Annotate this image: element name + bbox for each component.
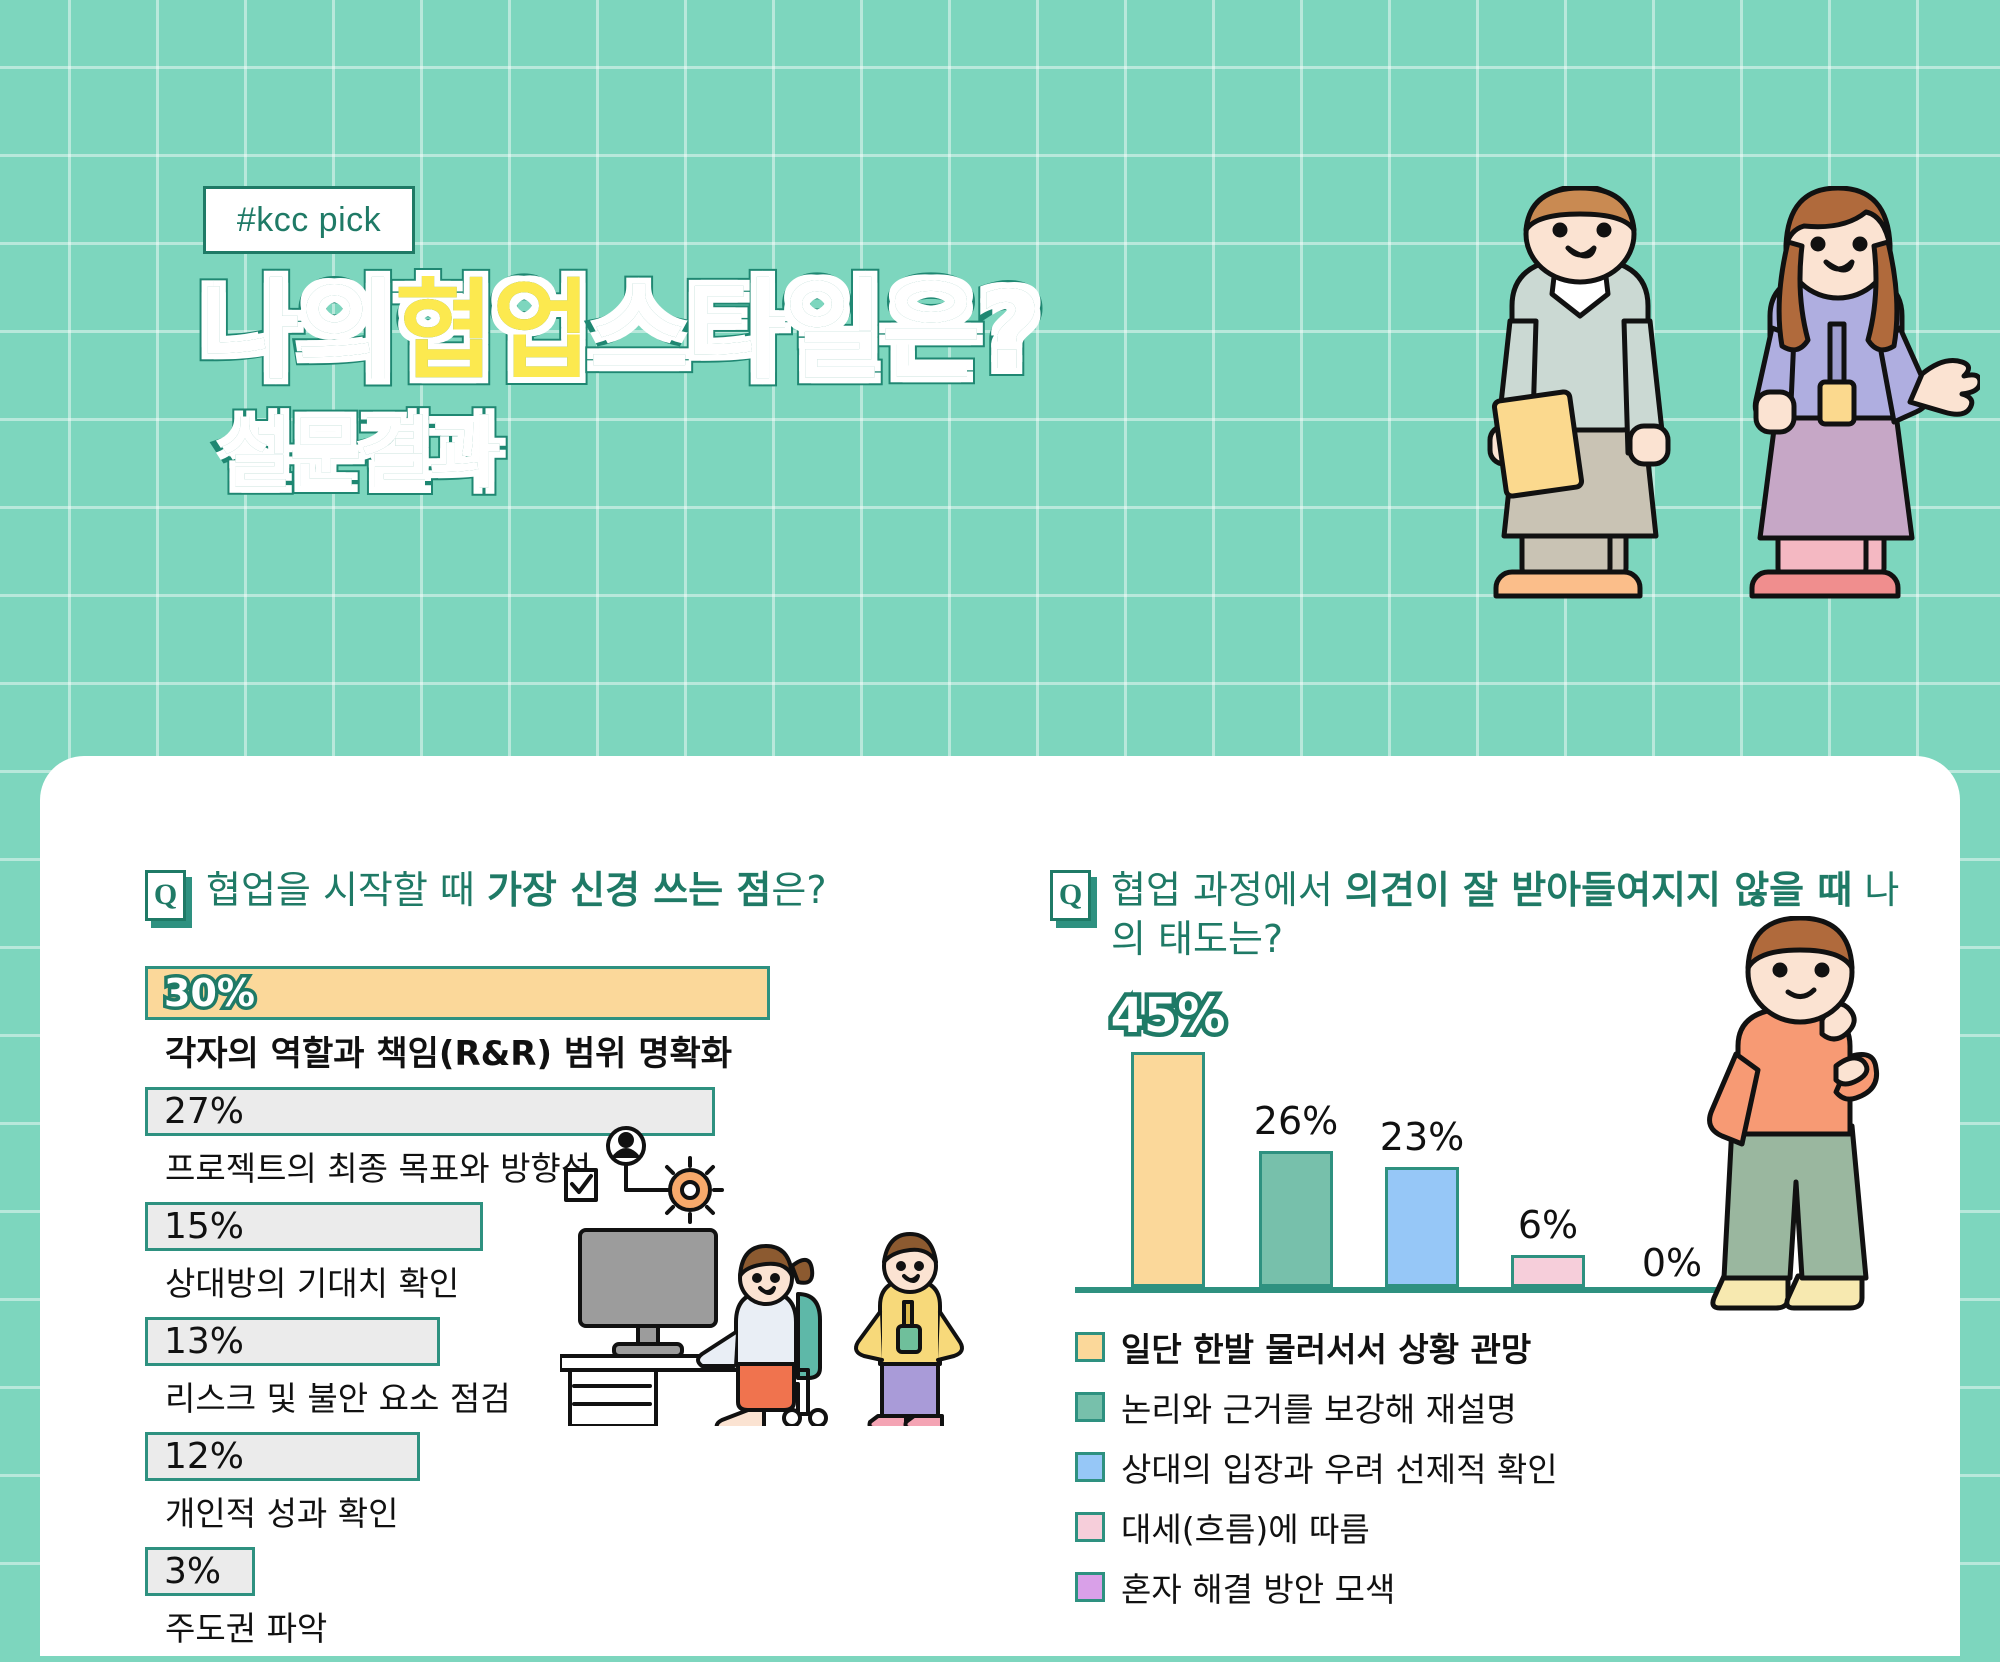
bar-value-3: 13%	[164, 1321, 244, 1362]
bar-label-4: 개인적 성과 확인	[145, 1481, 1015, 1545]
legend-item: 상대의 입장과 우려 선제적 확인	[1075, 1443, 1930, 1491]
legend-label-3: 대세(흐름)에 따름	[1121, 1503, 1370, 1551]
legend-label-2: 상대의 입장과 우려 선제적 확인	[1121, 1443, 1558, 1491]
title-highlight: 협업	[395, 272, 590, 393]
left-question-text-1: 협업을 시작할 때	[206, 868, 487, 912]
question-badge-icon: Q	[145, 870, 192, 928]
legend-label-1: 논리와 근거를 보강해 재설명	[1121, 1383, 1517, 1431]
bar-value-5: 3%	[164, 1551, 221, 1592]
vbar-2	[1385, 1167, 1459, 1287]
legend-swatch-3	[1075, 1512, 1105, 1542]
right-question-text-bold: 의견이 잘 받아들여지지 않을 때	[1345, 868, 1852, 912]
vbar-3	[1511, 1255, 1585, 1287]
title-part-2: 스타일은?	[589, 272, 1039, 393]
bar-label-5: 주도권 파악	[145, 1596, 1015, 1660]
kcc-pick-tag: #kcc pick	[203, 186, 415, 254]
legend-item: 혼자 해결 방안 모색	[1075, 1563, 1930, 1611]
left-question-text-bold: 가장 신경 쓰는 점	[487, 868, 771, 912]
question-badge-label: Q	[1050, 870, 1091, 921]
bar-value-1: 27%	[164, 1091, 244, 1132]
legend-swatch-2	[1075, 1452, 1105, 1482]
two-colleagues-illustration	[1460, 186, 1980, 616]
legend-item: 대세(흐름)에 따름	[1075, 1503, 1930, 1551]
chart-legend: 일단 한발 물러서서 상황 관망 논리와 근거를 보강해 재설명 상대의 입장과…	[1075, 1323, 1930, 1611]
page-title: 나의 협업 스타일은? 설문결과	[200, 272, 1200, 498]
legend-swatch-1	[1075, 1392, 1105, 1422]
bar-value-0: 30%	[164, 971, 255, 1015]
bar-value-2: 15%	[164, 1206, 244, 1247]
legend-swatch-4	[1075, 1572, 1105, 1602]
office-desk-illustration	[560, 1126, 990, 1426]
legend-swatch-0	[1075, 1332, 1105, 1362]
bar-2: 15%	[145, 1202, 483, 1251]
vbar-value-3: 6%	[1518, 1203, 1578, 1247]
right-question-text-1: 협업 과정에서	[1111, 868, 1345, 912]
vbar-1	[1259, 1151, 1333, 1287]
left-question: Q 협업을 시작할 때 가장 신경 쓰는 점은?	[145, 866, 1015, 928]
bar-5: 3%	[145, 1547, 255, 1596]
vbar-value-1: 26%	[1254, 1099, 1338, 1143]
question-badge-icon: Q	[1050, 870, 1097, 928]
results-card: Q 협업을 시작할 때 가장 신경 쓰는 점은? 30% 각자의 역할과 책임(…	[40, 756, 1960, 1656]
thinking-person-illustration	[1654, 916, 1934, 1336]
bar-row: 30% 각자의 역할과 책임(R&R) 범위 명확화	[145, 966, 1015, 1085]
bar-row: 3% 주도권 파악	[145, 1547, 1015, 1660]
bar-4: 12%	[145, 1432, 420, 1481]
question-badge-label: Q	[145, 870, 186, 921]
bar-0: 30%	[145, 966, 770, 1020]
vbar-0	[1131, 1052, 1205, 1287]
left-question-text-2: 은?	[771, 868, 826, 912]
vbar-value-2: 23%	[1380, 1115, 1464, 1159]
legend-label-0: 일단 한발 물러서서 상황 관망	[1121, 1323, 1531, 1371]
vbar-value-0: 45%	[1111, 988, 1226, 1044]
legend-item: 논리와 근거를 보강해 재설명	[1075, 1383, 1930, 1431]
bar-row: 12% 개인적 성과 확인	[145, 1432, 1015, 1545]
bar-value-4: 12%	[164, 1436, 244, 1477]
bar-label-0: 각자의 역할과 책임(R&R) 범위 명확화	[145, 1020, 1015, 1085]
bar-3: 13%	[145, 1317, 440, 1366]
kcc-pick-tag-label: #kcc pick	[237, 201, 381, 240]
page-subtitle: 설문결과	[220, 411, 499, 498]
title-part-1: 나의	[200, 272, 395, 393]
legend-label-4: 혼자 해결 방안 모색	[1121, 1563, 1395, 1611]
